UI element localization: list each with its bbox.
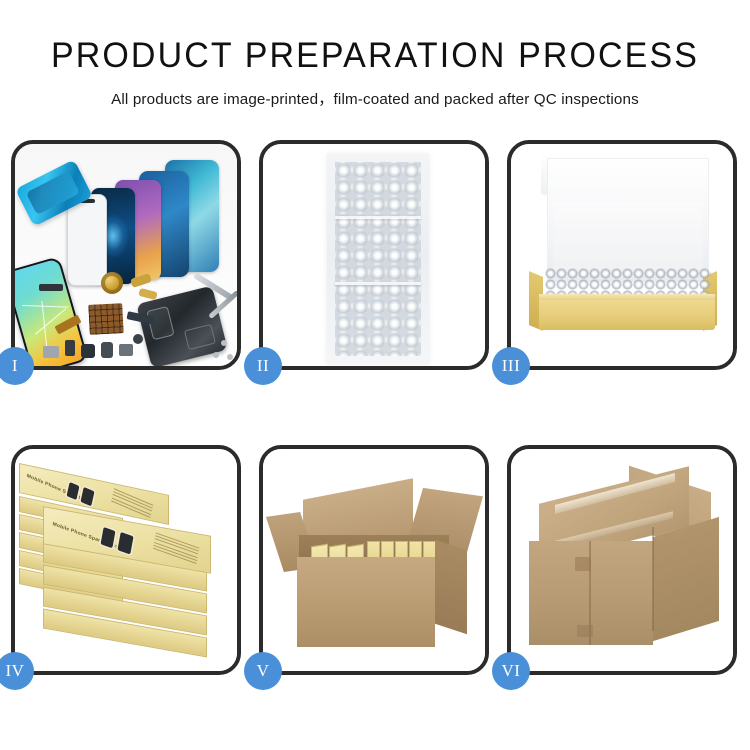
step-panel-1: I <box>11 140 241 370</box>
step-panel-5: V <box>259 445 489 675</box>
step-panel-4: Mobile Phone Spare Parts <box>11 445 241 675</box>
screw-part <box>213 352 219 358</box>
phone-screen-1 <box>67 194 107 286</box>
button-part <box>133 334 143 344</box>
small-component-part <box>101 342 113 358</box>
step-badge-6: VI <box>492 652 530 690</box>
wrap-seam <box>335 216 421 219</box>
flex-cable-part <box>138 288 157 300</box>
carton-patch <box>575 557 591 571</box>
process-steps-grid: I II <box>11 140 739 675</box>
wrap-seam <box>335 282 421 285</box>
sealed-carton-illustration <box>511 449 733 671</box>
stacked-boxes-illustration: Mobile Phone Spare Parts <box>15 449 237 671</box>
step-badge-2: II <box>244 347 282 385</box>
infographic-page: PRODUCT PREPARATION PROCESS All products… <box>0 0 750 750</box>
carton-right-side <box>435 540 467 634</box>
connector-part <box>39 284 63 291</box>
carton-right-side <box>653 517 719 641</box>
speaker-coil-part <box>101 272 123 294</box>
step-badge-1: I <box>0 347 34 385</box>
step-badge-3: III <box>492 347 530 385</box>
small-component-part <box>119 344 133 356</box>
carton-edge <box>652 527 654 631</box>
small-component-part <box>81 344 95 358</box>
phone-parts-illustration <box>15 144 237 366</box>
step-panel-2: II <box>259 140 489 370</box>
foam-insert <box>553 202 703 272</box>
step-panel-6: VI <box>507 445 737 675</box>
step-badge-4: IV <box>0 652 34 690</box>
chip-module-part <box>88 303 124 335</box>
small-component-part <box>65 340 75 356</box>
page-subtitle: All products are image-printed，film-coat… <box>0 87 750 109</box>
header: PRODUCT PREPARATION PROCESS All products… <box>0 0 750 109</box>
step-panel-3: III <box>507 140 737 370</box>
carton-patch <box>577 625 593 637</box>
carton-front <box>297 557 435 647</box>
screw-part <box>227 354 233 360</box>
bubble-pattern <box>335 162 421 356</box>
screw-part <box>221 340 227 346</box>
kraft-box-front <box>539 300 715 330</box>
crack-line <box>22 305 68 308</box>
open-carton-illustration <box>263 449 485 671</box>
step-badge-5: V <box>244 652 282 690</box>
inner-box-illustration <box>511 144 733 366</box>
bubble-wrap-pouch <box>327 154 429 364</box>
box-stack: Mobile Phone Spare Parts <box>15 449 237 671</box>
bubble-wrap-illustration <box>263 144 485 366</box>
page-title: PRODUCT PREPARATION PROCESS <box>11 36 739 76</box>
small-component-part <box>43 346 59 358</box>
